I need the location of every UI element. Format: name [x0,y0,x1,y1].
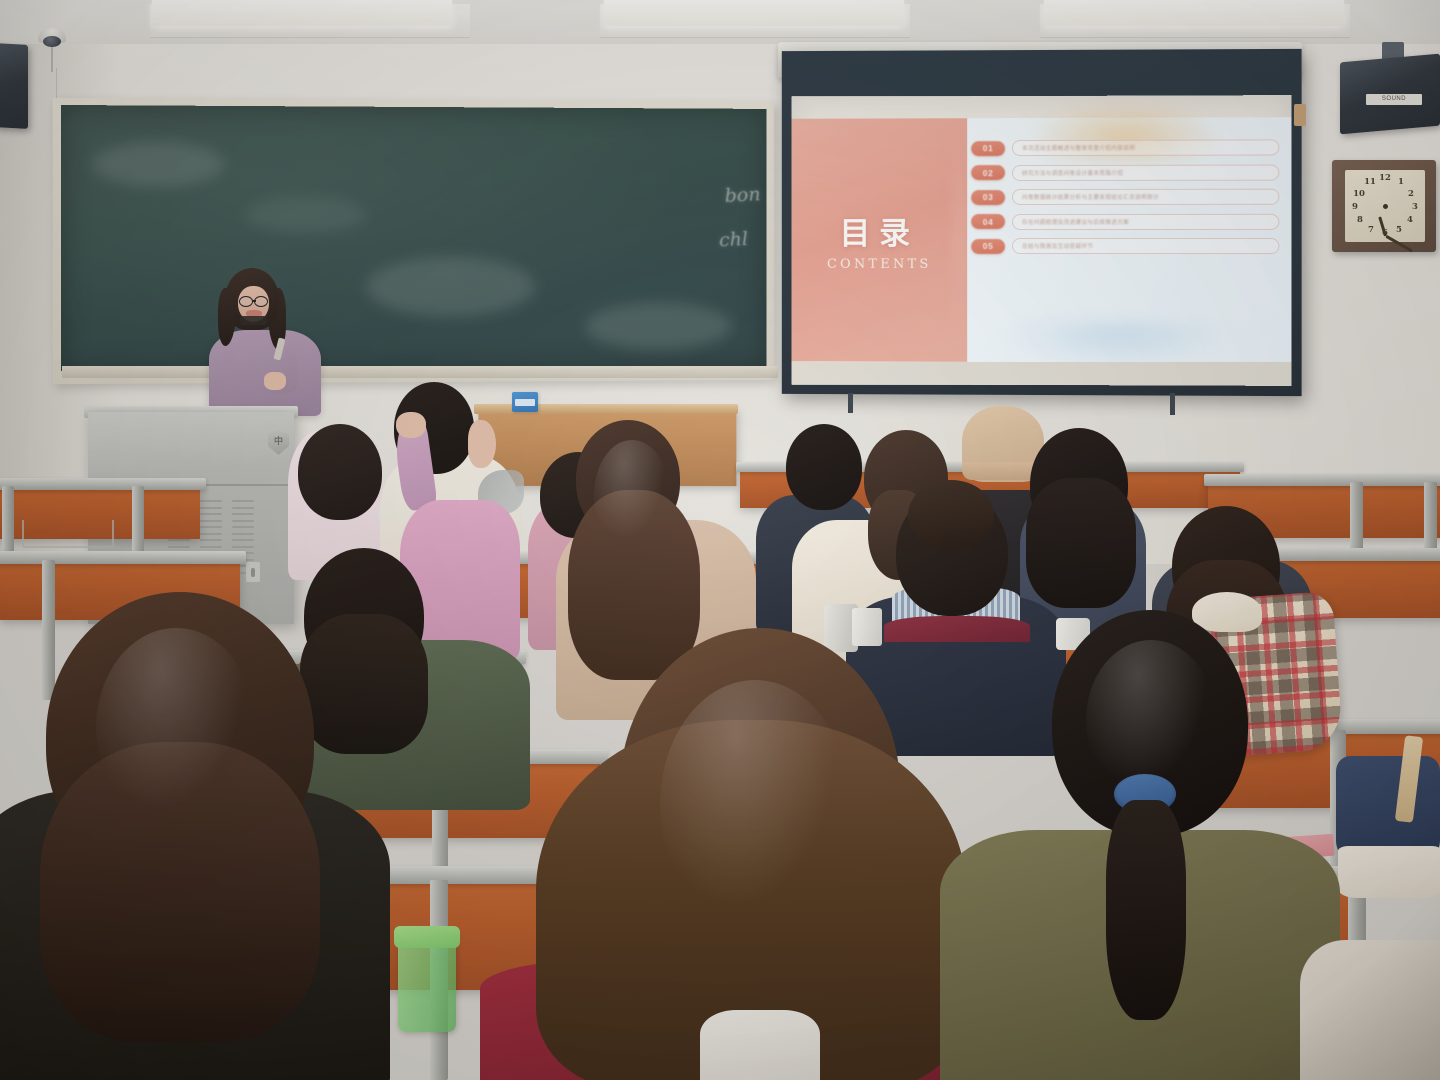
podium-keyhole [251,568,255,577]
hair-highlight [1086,640,1216,800]
shirt-collar [700,1010,820,1080]
toc-row: 02 研究方法与调查问卷设计基本思路介绍 [971,164,1279,181]
clock-number: 5 [1393,225,1405,235]
classroom-photo: SOUND bon chl 目录 CONTENTS 01 [0,0,1440,1080]
clock-center [1383,204,1388,209]
bottle-cap [394,926,460,948]
student-hair [300,614,428,754]
clock-number: 2 [1405,189,1417,199]
toc-row: 03 问卷数据统计结果分析与主要发现结论汇总说明部分 [971,189,1279,205]
toc-number-badge: 05 [971,239,1005,254]
toc-text: 总结与致谢及互动答疑环节 [1022,242,1093,250]
toc-row: 04 存在问题梳理及改进建议与后续推进方案 [971,213,1279,229]
student-face [468,420,496,468]
slide-title-panel: 目录 CONTENTS [792,118,967,362]
slide-contents-panel: 01 本次活动主题概述与整体背景介绍内容说明 02 研究方法与调查问卷设计基本思… [967,117,1291,363]
glasses-icon [239,296,253,307]
clock-number: 4 [1404,215,1416,225]
screen-hook-right [1170,393,1175,415]
desk-row-top [1276,548,1440,561]
toc-number-badge: 01 [971,141,1005,156]
toc-bar: 存在问题梳理及改进建议与后续推进方案 [1012,213,1279,229]
chalk-tray [62,366,778,378]
clock-number: 10 [1353,189,1365,199]
desk-row-top [1204,474,1440,486]
toc-number-badge: 03 [971,190,1005,205]
student-sleeve [1300,940,1440,1080]
ceiling-light-1 [152,0,452,26]
screen-hook-left [848,393,853,413]
book-shelf [22,520,114,548]
projection-screen[interactable]: 目录 CONTENTS 01 本次活动主题概述与整体背景介绍内容说明 02 研究… [792,95,1292,386]
clock-number: 9 [1349,202,1361,212]
toc-bar: 问卷数据统计结果分析与主要发现结论汇总说明部分 [1012,189,1279,205]
hair-highlight [660,680,850,930]
vest-trim [884,616,1030,642]
toc-text: 研究方法与调查问卷设计基本思路介绍 [1022,168,1123,176]
toc-bar: 总结与致谢及互动答疑环节 [1012,238,1279,254]
bag-pocket [1338,846,1440,898]
toc-number-badge: 02 [971,165,1005,180]
hair-bun [908,480,994,550]
clock-number: 8 [1354,215,1366,225]
screen-roller [1294,104,1306,126]
toc-text: 存在问题梳理及改进建议与后续推进方案 [1022,217,1129,225]
hair-highlight [594,440,670,550]
toc-number-badge: 04 [971,214,1005,229]
camera-lens-icon [43,36,61,47]
toc-row: 05 总结与致谢及互动答疑环节 [971,238,1279,254]
presentation-slide: 目录 CONTENTS 01 本次活动主题概述与整体背景介绍内容说明 02 研究… [792,117,1292,363]
wall-speaker-left [0,43,28,129]
face-mask-icon [240,316,267,325]
toc-bar: 研究方法与调查问卷设计基本思路介绍 [1012,164,1279,181]
presenter-hand [264,372,286,390]
ceiling-light-2 [604,0,904,26]
slide-title-english: CONTENTS [827,257,932,272]
ceiling-light-3 [1044,0,1344,26]
desk-leg [42,560,55,700]
clock-number: 11 [1364,177,1376,187]
screen-bottom-margin [792,362,1292,385]
emblem-glyph: 中 [273,436,284,448]
student-hair [1026,478,1136,608]
desk-row-top [0,551,246,564]
slide-title-chinese: 目录 [840,208,919,253]
student-head [786,424,862,510]
toc-row: 01 本次活动主题概述与整体背景介绍内容说明 [971,139,1279,156]
toc-text: 本次活动主题概述与整体背景介绍内容说明 [1022,144,1135,152]
toc-bar: 本次活动主题概述与整体背景介绍内容说明 [1012,139,1279,156]
hair-highlight [96,628,256,828]
jacket-collar [1192,592,1262,632]
clock-number: 1 [1395,177,1407,187]
clock-number: 12 [1379,173,1391,183]
clock-number: 3 [1409,202,1421,212]
desk-row-top [0,478,206,490]
glasses-bridge [252,300,256,302]
student-hand [396,412,426,438]
clock-number: 7 [1365,225,1377,235]
glasses-icon [254,296,268,307]
speaker-label: SOUND [1366,94,1422,105]
student-head [298,424,382,520]
tissue-box-label [515,399,535,406]
student-ponytail [1106,800,1186,1020]
green-chalkboard [61,105,767,371]
cup [852,608,882,646]
toc-text: 问卷数据统计结果分析与主要发现结论汇总说明部分 [1022,193,1159,201]
